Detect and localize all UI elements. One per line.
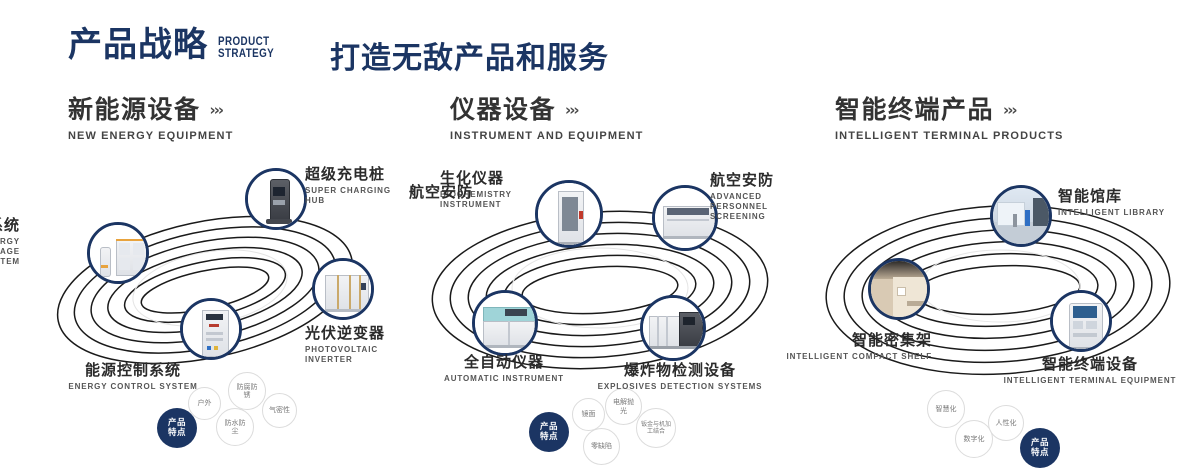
center-badge-line1: 产品 [1031,438,1049,448]
product-photo-biochemistry [538,183,600,245]
center-badge-line2: 特点 [1031,448,1049,458]
node-label-en: ENERGY CONTROL SYSTEM [28,382,238,392]
node-label-en: EXPLOSIVES DETECTION SYSTEMS [580,382,780,392]
product-photo-automatic-instrument [475,293,535,353]
feature-label: 电解抛光 [613,398,635,415]
node-label-en: SUPER CHARGING HUB [305,186,400,206]
feature-label: 人性化 [996,419,1017,428]
section-title-text: 新能源设备 [68,96,201,124]
section-title-new-energy: 新能源设备 ››› NEW ENERGY EQUIPMENT [68,96,233,142]
chevron-right-icon: ››› [565,102,578,119]
feature-label: 气密性 [268,406,292,415]
node-label-photovoltaic-inverter: 光伏逆变器 PHOTOVOLTAIC INVERTER [305,325,400,365]
feature-label: 镜面 [582,410,596,419]
product-photo-explosives-detection [643,298,703,358]
node-label-cn: 航空安防 [409,184,473,201]
feature-label: 钣金与机加工结合 [641,421,671,436]
brand-title-en: PRODUCT STRATEGY [218,35,274,62]
feature-label: 户外 [198,399,212,408]
section-subtitle-en: INSTRUMENT AND EQUIPMENT [450,130,643,142]
node-label-en: ENERGY STORAGE SYSTEM [0,237,20,267]
center-badge-line2: 特点 [540,432,558,442]
node-label-en: INTELLIGENT LIBRARY [1058,208,1165,218]
product-photo-compact-shelf [871,261,927,317]
feature-bubble: 防水防尘 [216,408,254,446]
product-photo-screening [655,188,715,248]
node-explosives-detection[interactable] [640,295,706,361]
section-title-instrument: 仪器设备 ››› INSTRUMENT AND EQUIPMENT [450,96,643,142]
feature-label: 智慧化 [936,405,957,414]
node-intelligent-compact-shelf[interactable] [868,258,930,320]
diagram-instrument: 镜面 电解抛光 零缺陷 钣金与机加工结合 产品 特点 生化仪器 BIOCHEMI… [400,150,800,420]
product-photo-charging-hub [248,171,304,227]
node-label-automatic-instrument: 全自动仪器 AUTOMATIC INSTRUMENT [414,354,594,384]
node-label-cn: 智能终端设备 [980,356,1200,373]
feature-label: 防水防尘 [223,419,247,436]
node-label-en: INTELLIGENT COMPACT SHELF [782,352,932,362]
section-title-text: 智能终端产品 [835,96,994,124]
center-badge-line2: 特点 [168,428,186,438]
node-super-charging-hub[interactable] [245,168,307,230]
section-title-text: 仪器设备 [450,96,556,124]
node-label-energy-storage: 储能系统 ENERGY STORAGE SYSTEM [0,217,20,267]
node-label-en: AUTOMATIC INSTRUMENT [414,374,594,384]
node-label-intelligent-compact-shelf: 智能密集架 INTELLIGENT COMPACT SHELF [782,332,932,362]
center-badge: 产品 特点 [1020,428,1060,468]
node-label-cn: 爆炸物检测设备 [580,362,780,379]
node-label-explosives-detection: 爆炸物检测设备 EXPLOSIVES DETECTION SYSTEMS [580,362,780,392]
node-label-cn: 储能系统 [0,217,20,234]
node-biochemistry-instrument[interactable] [535,180,603,248]
section-subtitle-en: INTELLIGENT TERMINAL PRODUCTS [835,130,1063,142]
node-intelligent-terminal-equipment[interactable] [1050,290,1112,352]
section-title-cn: 仪器设备 ››› [450,96,643,124]
feature-label: 防腐防锈 [235,383,259,400]
node-label-en: INTELLIGENT TERMINAL EQUIPMENT [980,376,1200,386]
brand-title-cn: 产品战略 [68,28,208,62]
section-title-cn: 智能终端产品 ››› [835,96,1063,124]
node-label-cn: 能源控制系统 [28,362,238,379]
feature-label: 数字化 [964,435,985,444]
feature-bubble: 人性化 [988,405,1024,441]
product-photo-energy-control [183,301,239,357]
center-badge: 产品 特点 [157,408,197,448]
node-advanced-personnel-screening[interactable] [652,185,718,251]
node-intelligent-library[interactable] [990,185,1052,247]
product-photo-library [993,188,1049,244]
node-energy-storage[interactable] [87,222,149,284]
node-label-intelligent-library: 智能馆库 INTELLIGENT LIBRARY [1058,188,1165,218]
product-strategy-infographic: 产品战略 PRODUCT STRATEGY 打造无敌产品和服务 新能源设备 ››… [0,0,1200,422]
diagram-intelligent: 智慧化 数字化 人性化 产品 特点 智能馆库 [800,150,1200,420]
feature-bubble: 镜面 [572,398,605,431]
node-label-cn: 超级充电桩 [305,166,400,183]
chevron-right-icon: ››› [1003,102,1016,119]
node-energy-control-system[interactable] [180,298,242,360]
feature-label: 零缺陷 [589,442,615,451]
node-label-en: PHOTOVOLTAIC INVERTER [305,345,400,365]
chevron-right-icon: ››› [210,102,223,119]
node-label-en: ADVANCED PERSONNEL SCREENING [710,192,796,222]
node-label-cn: 全自动仪器 [414,354,594,371]
page-headline: 打造无敌产品和服务 [330,33,609,77]
node-label-advanced-personnel-screening: 航空安防 ADVANCED PERSONNEL SCREENING [710,172,796,222]
feature-bubble: 智慧化 [927,390,965,428]
brand-en-line2: STRATEGY [218,47,274,59]
center-badge: 产品 特点 [529,412,569,452]
section-title-cn: 新能源设备 ››› [68,96,233,124]
node-label-cn: 智能密集架 [782,332,932,349]
section-title-intelligent: 智能终端产品 ››› INTELLIGENT TERMINAL PRODUCTS [835,96,1063,142]
feature-bubble: 钣金与机加工结合 [636,408,676,448]
node-label-cn: 航空安防 [710,172,796,189]
node-label-intelligent-terminal-equipment: 智能终端设备 INTELLIGENT TERMINAL EQUIPMENT [980,356,1200,386]
node-label-aviation-security-left: 航空安防 [409,184,473,201]
diagram-new-energy: 户外 防腐防锈 防水防尘 气密性 产品 特点 [0,150,400,420]
feature-bubble: 零缺陷 [583,428,620,465]
node-label-cn: 光伏逆变器 [305,325,400,342]
feature-bubble: 电解抛光 [605,388,642,425]
node-photovoltaic-inverter[interactable] [312,258,374,320]
feature-bubble: 气密性 [262,393,297,428]
node-label-super-charging-hub: 超级充电桩 SUPER CHARGING HUB [305,166,400,206]
product-photo-terminal [1053,293,1109,349]
node-label-energy-control-system: 能源控制系统 ENERGY CONTROL SYSTEM [28,362,238,392]
center-badge-line1: 产品 [168,418,186,428]
center-badge-line1: 产品 [540,422,558,432]
page-header: 产品战略 PRODUCT STRATEGY 打造无敌产品和服务 [0,0,1200,88]
section-subtitle-en: NEW ENERGY EQUIPMENT [68,130,233,142]
node-label-cn: 智能馆库 [1058,188,1165,205]
node-automatic-instrument[interactable] [472,290,538,356]
brand-lockup: 产品战略 PRODUCT STRATEGY [68,28,286,62]
product-photo-energy-storage [90,225,146,281]
product-photo-inverter [315,261,371,317]
